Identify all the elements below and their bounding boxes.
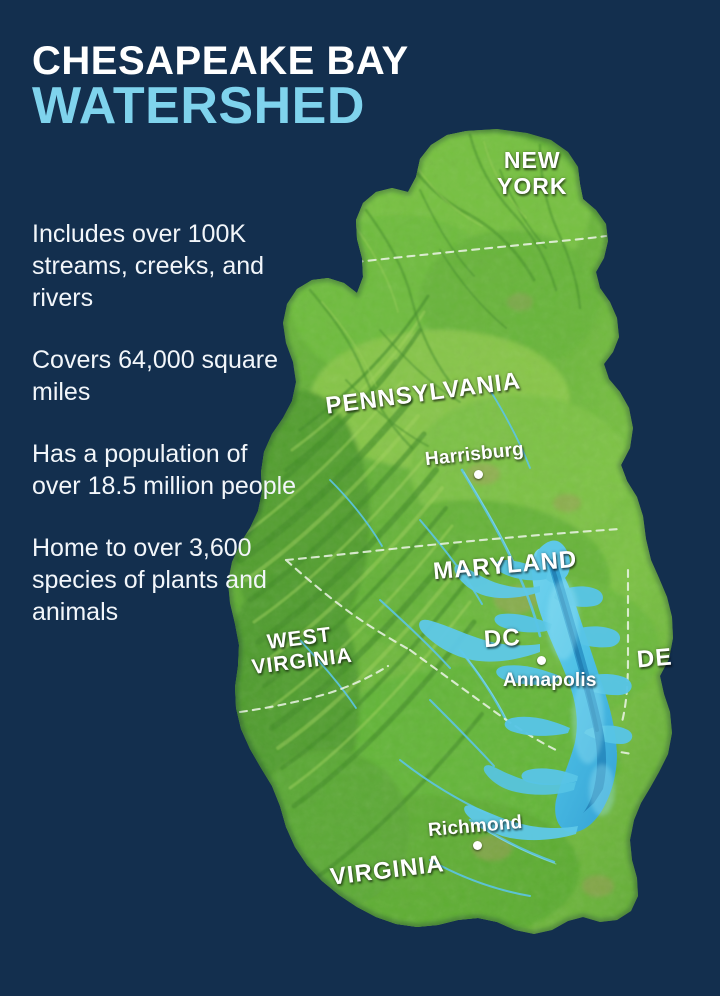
fact-item-area: Covers 64,000 square miles [32, 344, 300, 408]
page-title-line1: CHESAPEAKE BAY [32, 40, 409, 82]
chesapeake-bay-watershed-infographic: CHESAPEAKE BAY WATERSHED Includes over 1… [0, 0, 720, 996]
city-dot-richmond [473, 841, 482, 850]
city-dot-harrisburg [474, 470, 483, 479]
page-title-line2: WATERSHED [32, 80, 409, 132]
fact-item-population: Has a population of over 18.5 million pe… [32, 438, 300, 502]
fact-item-streams: Includes over 100K streams, creeks, and … [32, 218, 300, 314]
fact-list: Includes over 100K streams, creeks, and … [32, 218, 300, 628]
fact-item-species: Home to over 3,600 species of plants and… [32, 532, 300, 628]
city-dot-annapolis [537, 656, 546, 665]
title-block: CHESAPEAKE BAY WATERSHED [32, 40, 409, 132]
